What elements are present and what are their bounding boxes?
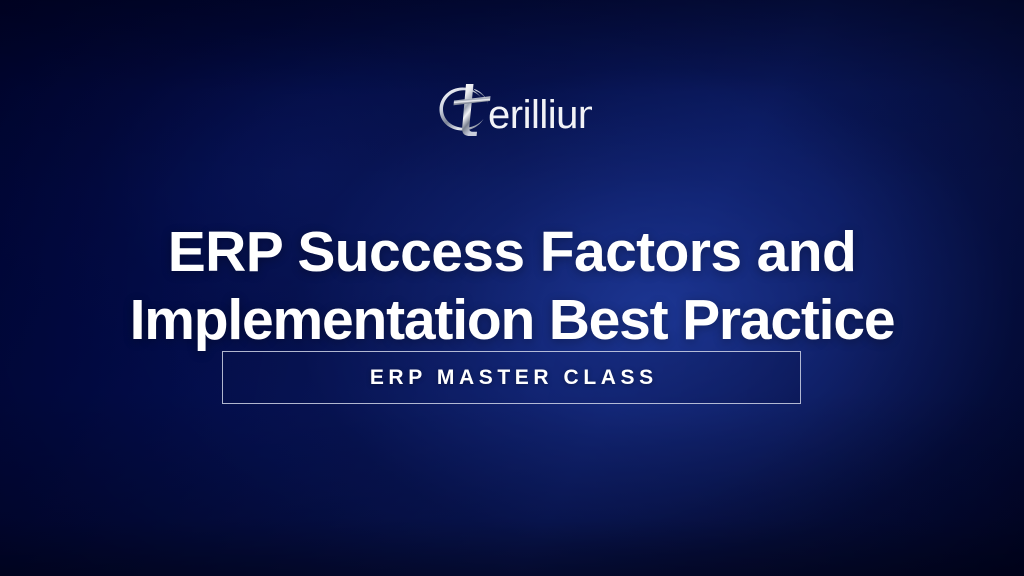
page-title-line-2: Implementation Best Practice	[0, 286, 1024, 354]
logo-wordmark: erillium	[488, 93, 592, 137]
series-badge-label: ERP MASTER CLASS	[365, 366, 658, 390]
series-badge: ERP MASTER CLASS	[222, 351, 801, 404]
slide-canvas: erillium ERP Success Factors and Impleme…	[0, 0, 1024, 576]
logo-lockup: erillium	[0, 78, 1024, 140]
page-title: ERP Success Factors and Implementation B…	[0, 218, 1024, 354]
terillium-logo: erillium	[432, 78, 592, 140]
page-title-line-1: ERP Success Factors and	[0, 218, 1024, 286]
slide-content: erillium ERP Success Factors and Impleme…	[0, 0, 1024, 576]
